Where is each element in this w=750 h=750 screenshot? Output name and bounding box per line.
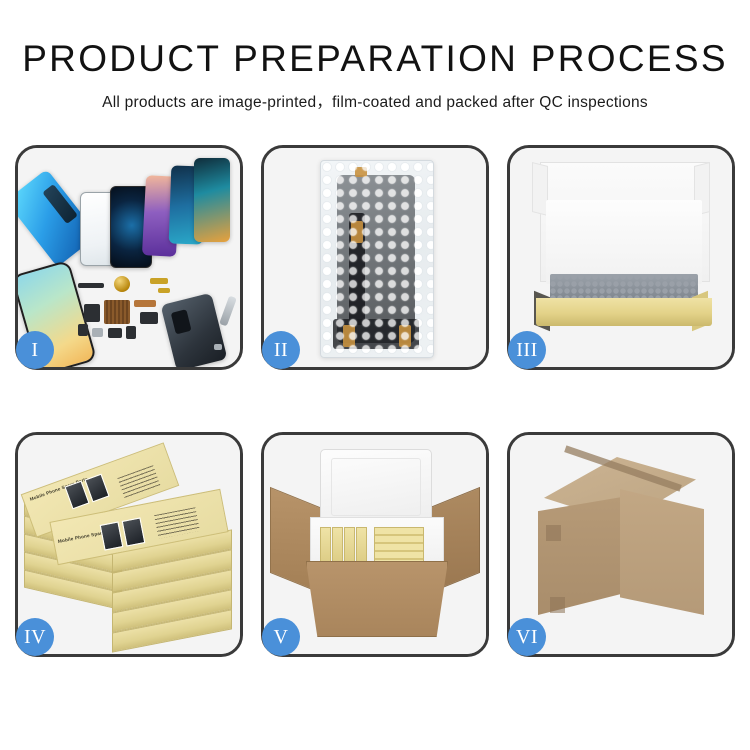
process-step-panel-1[interactable]: I	[15, 145, 243, 370]
sim-tray-icon	[78, 324, 88, 336]
orange-gradient-phone-icon	[194, 158, 230, 242]
gold-contact-tab-icon	[399, 325, 411, 347]
vibration-motor-icon	[126, 326, 136, 339]
step-3-image	[510, 148, 732, 367]
process-step-panel-5[interactable]: V	[261, 432, 489, 657]
corner-tab-icon	[550, 597, 565, 613]
speaker-module-icon	[114, 276, 130, 292]
yellow-inner-box-icon	[536, 298, 712, 326]
corner-tab-icon	[546, 525, 561, 541]
step-badge-1: I	[16, 331, 54, 369]
step-badge-2: II	[262, 331, 300, 369]
process-step-panel-6[interactable]: VI	[507, 432, 735, 657]
step-badge-6: VI	[508, 618, 546, 656]
process-step-grid: I II	[15, 145, 735, 690]
process-step-panel-3[interactable]: III	[507, 145, 735, 370]
step-4-image: Mobile Phone Spare Parts Mobile Phone Sp…	[18, 435, 240, 654]
carton-right-face-icon	[620, 489, 704, 615]
sealed-carton-scene	[510, 435, 732, 654]
logic-board-icon	[104, 300, 130, 324]
page-header: PRODUCT PREPARATION PROCESS All products…	[0, 0, 750, 112]
white-foam-sheet-icon	[546, 200, 702, 284]
step-1-image	[18, 148, 240, 367]
bubble-wrapped-part-scene	[264, 148, 486, 367]
process-step-panel-4[interactable]: Mobile Phone Spare Parts Mobile Phone Sp…	[15, 432, 243, 657]
step-badge-5: V	[262, 618, 300, 656]
outer-carton-icon	[306, 561, 448, 637]
gold-contact-tab-icon	[351, 221, 363, 243]
white-foam-lid-icon	[320, 449, 432, 527]
repair-tool-icon	[219, 296, 237, 327]
gold-contact-tab-icon	[355, 167, 367, 177]
stacked-inner-boxes-scene: Mobile Phone Spare Parts Mobile Phone Sp…	[18, 435, 240, 654]
earpiece-mesh-icon	[78, 283, 104, 288]
bubble-wrap-bag-icon	[320, 160, 434, 358]
shield-can-icon	[84, 304, 100, 322]
step-badge-4: IV	[16, 618, 54, 656]
gold-contact-tab-icon	[343, 325, 355, 347]
connector-icon	[140, 312, 158, 324]
screw-icon	[214, 344, 222, 350]
stacked-yellow-boxes-icon: Mobile Phone Spare Parts Mobile Phone Sp…	[24, 457, 236, 647]
foam-lined-inner-box-scene	[510, 148, 732, 367]
flex-cable-icon	[134, 300, 156, 307]
step-6-image	[510, 435, 732, 654]
gold-bracket-icon	[150, 278, 168, 284]
metal-bracket-icon	[92, 328, 103, 337]
camera-module-icon	[108, 328, 122, 338]
page-subtitle: All products are image-printed，film-coat…	[0, 79, 750, 112]
step-5-image	[264, 435, 486, 654]
step-2-image	[264, 148, 486, 367]
screw-set-icon	[158, 288, 170, 293]
step-badge-3: III	[508, 331, 546, 369]
phone-back-housing-icon	[161, 293, 228, 367]
phones-and-parts-scene	[18, 148, 240, 367]
page-title: PRODUCT PREPARATION PROCESS	[0, 0, 750, 79]
process-step-panel-2[interactable]: II	[261, 145, 489, 370]
carton-with-foam-liner-scene	[264, 435, 486, 654]
